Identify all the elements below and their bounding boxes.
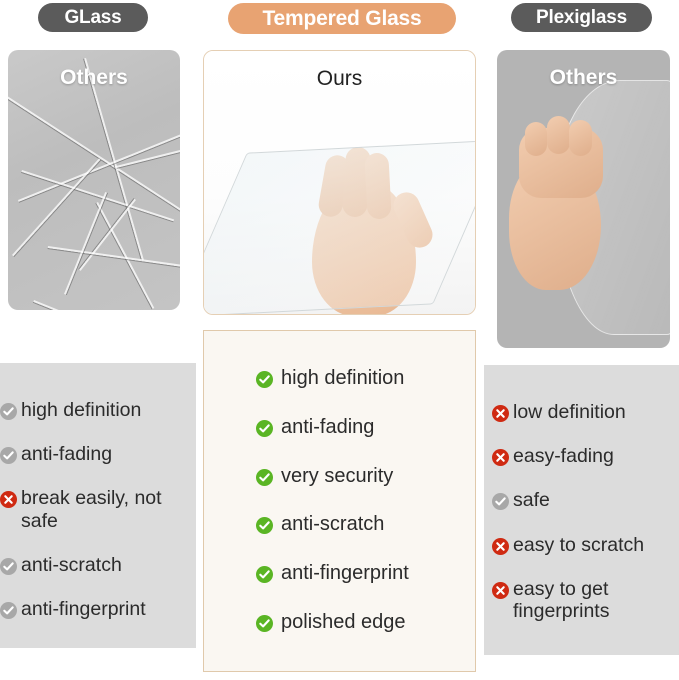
feature-item: anti-fingerprint — [256, 562, 475, 585]
feature-label: anti-fading — [281, 416, 374, 439]
feature-item: anti-fingerprint — [0, 598, 196, 620]
check-muted-icon — [0, 447, 17, 464]
check-good-icon — [256, 420, 273, 437]
image-card-tempered-glass: Ours — [203, 50, 476, 315]
feature-label: easy to get fingerprints — [513, 578, 679, 622]
hand-finger-shape — [569, 120, 592, 156]
feature-item: high definition — [0, 399, 196, 421]
feature-label: low definition — [513, 401, 626, 423]
feature-label: very security — [281, 465, 393, 488]
image-card-broken-glass: Others — [8, 50, 180, 310]
feature-item: anti-scratch — [256, 513, 475, 536]
feature-list-plexiglass: low definition easy-fading safe — [484, 365, 679, 622]
cross-bad-icon — [492, 538, 509, 555]
feature-panel-tempered-glass: high definition anti-fading very securit… — [203, 330, 476, 672]
feature-item: anti-fading — [256, 416, 475, 439]
feature-item: anti-fading — [0, 443, 196, 465]
feature-item: anti-scratch — [0, 554, 196, 576]
feature-label: easy-fading — [513, 445, 614, 467]
feature-label: easy to scratch — [513, 534, 644, 556]
feature-list-glass: high definition anti-fading break easily… — [0, 363, 196, 620]
check-good-icon — [256, 566, 273, 583]
feature-label: anti-fingerprint — [21, 598, 146, 620]
image-card-plexiglass: Others — [497, 50, 670, 348]
feature-item: safe — [492, 489, 679, 511]
feature-item: break easily, not safe — [0, 487, 196, 531]
feature-item: polished edge — [256, 611, 475, 634]
feature-item: high definition — [256, 367, 475, 390]
check-muted-icon — [0, 602, 17, 619]
card-label-ours: Ours — [204, 67, 475, 91]
check-good-icon — [256, 517, 273, 534]
feature-label: anti-scratch — [21, 554, 122, 576]
header-pill-glass: GLass — [38, 3, 148, 32]
cross-bad-icon — [0, 491, 17, 508]
cross-bad-icon — [492, 449, 509, 466]
card-label-others-left: Others — [8, 66, 180, 90]
feature-label: high definition — [281, 367, 404, 390]
check-good-icon — [256, 469, 273, 486]
check-good-icon — [256, 371, 273, 388]
feature-panel-plexiglass: low definition easy-fading safe — [484, 365, 679, 655]
header-pill-tempered-glass: Tempered Glass — [228, 3, 456, 34]
check-muted-icon — [0, 403, 17, 420]
feature-label: break easily, not safe — [21, 487, 196, 531]
check-muted-icon — [492, 493, 509, 510]
header-pill-plexiglass: Plexiglass — [511, 3, 652, 32]
cross-bad-icon — [492, 405, 509, 422]
plexiglass-illustration — [497, 50, 670, 348]
hand-finger-shape — [525, 122, 547, 156]
check-muted-icon — [0, 558, 17, 575]
feature-label: anti-fingerprint — [281, 562, 409, 585]
feature-label: high definition — [21, 399, 141, 421]
cross-bad-icon — [492, 582, 509, 599]
feature-item: easy to scratch — [492, 534, 679, 556]
feature-label: safe — [513, 489, 550, 511]
card-label-others-right: Others — [497, 66, 670, 90]
feature-item: easy to get fingerprints — [492, 578, 679, 622]
feature-label: polished edge — [281, 611, 406, 634]
feature-panel-glass: high definition anti-fading break easily… — [0, 363, 196, 648]
comparison-infographic: GLass Tempered Glass Plexiglass Others — [0, 0, 679, 680]
feature-label: anti-scratch — [281, 513, 384, 536]
feature-list-tempered-glass: high definition anti-fading very securit… — [204, 331, 475, 634]
feature-label: anti-fading — [21, 443, 112, 465]
feature-item: low definition — [492, 401, 679, 423]
tempered-glass-sheet-shape — [203, 140, 476, 315]
check-good-icon — [256, 615, 273, 632]
feature-item: very security — [256, 465, 475, 488]
hand-finger-shape — [547, 116, 570, 154]
feature-item: easy-fading — [492, 445, 679, 467]
